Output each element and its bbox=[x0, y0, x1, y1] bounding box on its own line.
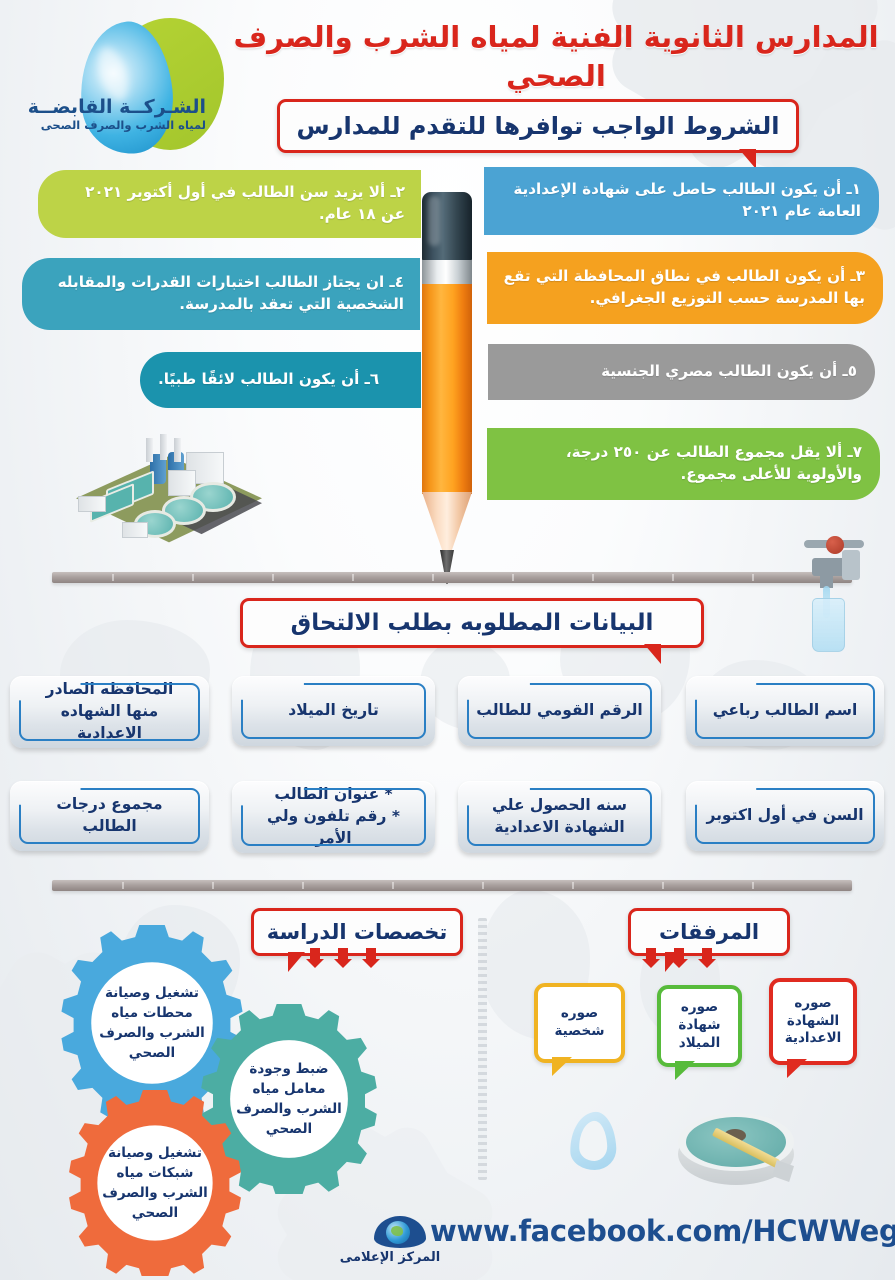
condition-item-2: ٢ـ ألا يزيد سن الطالب في أول أكتوبر ٢٠٢١… bbox=[38, 170, 421, 238]
condition-text: ٤ـ ان يجتاز الطالب اختبارات القدرات والم… bbox=[40, 272, 404, 315]
pencil-illustration bbox=[419, 192, 475, 592]
specializations-banner: تخصصات الدراسة bbox=[251, 908, 463, 956]
attachment-item-birth-certificate[interactable]: صوره شهادة الميلاد bbox=[657, 985, 742, 1067]
logo-line1: الشـركــة القابضــة bbox=[18, 96, 206, 118]
callout-tail bbox=[552, 1057, 572, 1076]
arrow-down-icon bbox=[646, 948, 656, 959]
condition-text: ٥ـ أن يكون الطالب مصري الجنسية bbox=[601, 361, 857, 383]
data-field-label: السن في أول اكتوبر bbox=[706, 805, 863, 827]
attachment-label: صوره شهادة الميلاد bbox=[669, 999, 730, 1052]
condition-item-7: ٧ـ ألا يقل مجموع الطالب عن ٢٥٠ درجة، وال… bbox=[487, 428, 880, 500]
media-center-label: المركز الإعلامى bbox=[330, 1250, 450, 1265]
divider-pipe-bottom bbox=[52, 880, 852, 891]
callout-tail bbox=[675, 1061, 695, 1080]
data-field-label: تاريخ الميلاد bbox=[288, 700, 379, 722]
data-field-box[interactable]: الرقم القومي للطالب bbox=[458, 676, 661, 746]
data-field-box[interactable]: تاريخ الميلاد bbox=[232, 676, 435, 746]
divider-pipe-top bbox=[52, 572, 852, 583]
data-field-box[interactable]: اسم الطالب رباعي bbox=[686, 676, 884, 746]
data-field-box[interactable]: مجموع درجات الطالب bbox=[10, 781, 209, 851]
logo-line2: لمياه الشرب والصرف الصحى bbox=[18, 118, 206, 132]
ribbon-tail bbox=[739, 149, 756, 169]
company-logo: الشـركــة القابضــة لمياه الشرب والصرف ا… bbox=[18, 12, 208, 167]
arrow-down-icon bbox=[310, 948, 320, 959]
conditions-banner: الشروط الواجب توافرها للتقدم للمدارس bbox=[277, 99, 799, 153]
attachment-item-certificate[interactable]: صوره الشهادة الاعدادية bbox=[769, 978, 857, 1065]
condition-text: ٧ـ ألا يقل مجموع الطالب عن ٢٥٠ درجة، وال… bbox=[503, 442, 862, 485]
gear-label: تشغيل وصيانة شبكات مياه الشرب والصرف الص… bbox=[98, 1143, 212, 1224]
data-field-label: سنه الحصول علي الشهادة الاعدادية bbox=[476, 795, 643, 838]
gear-label: تشغيل وصيانة محطات مياه الشرب والصرف الص… bbox=[94, 983, 210, 1064]
attachments-banner-label: المرفقات bbox=[659, 920, 759, 944]
conditions-banner-label: الشروط الواجب توافرها للتقدم للمدارس bbox=[297, 112, 780, 140]
data-section-banner-label: البيانات المطلوبه بطلب الالتحاق bbox=[291, 610, 654, 636]
data-field-label: * عنوان الطالب * رقم تلفون ولي الأمر bbox=[250, 784, 417, 849]
data-field-box[interactable]: السن في أول اكتوبر bbox=[686, 781, 884, 851]
media-center-logo bbox=[374, 1216, 426, 1248]
condition-item-6: ٦ـ أن يكون الطالب لائقًا طبيًا. bbox=[140, 352, 421, 408]
condition-item-5: ٥ـ أن يكون الطالب مصري الجنسية bbox=[488, 344, 875, 400]
data-field-label: المحافظه الصادر منها الشهاده الاعدادية bbox=[28, 679, 191, 744]
data-field-label: الرقم القومي للطالب bbox=[476, 700, 642, 722]
facebook-url[interactable]: www.facebook.com/HCWWeg bbox=[430, 1214, 885, 1248]
vertical-ruler-divider bbox=[478, 918, 487, 1180]
condition-text: ٦ـ أن يكون الطالب لائقًا طبيًا. bbox=[158, 369, 379, 391]
arrow-down-icon bbox=[702, 948, 712, 959]
condition-item-4: ٤ـ ان يجتاز الطالب اختبارات القدرات والم… bbox=[22, 258, 420, 330]
ribbon-tail bbox=[288, 952, 305, 972]
page-title: المدارس الثانوية الفنية لمياه الشرب والص… bbox=[231, 18, 881, 96]
clarifier-tank-illustration bbox=[672, 1105, 800, 1197]
ribbon-tail bbox=[644, 644, 661, 664]
attachment-label: صوره الشهادة الاعدادية bbox=[781, 995, 845, 1048]
logo-globe-icon bbox=[60, 16, 190, 156]
callout-tail bbox=[787, 1059, 807, 1078]
water-tap-illustration bbox=[790, 536, 885, 654]
arrow-down-icon bbox=[366, 948, 376, 959]
gear-label: ضبط وجودة معامل مياه الشرب والصرف الصحي bbox=[232, 1059, 346, 1140]
condition-text: ٢ـ ألا يزيد سن الطالب في أول أكتوبر ٢٠٢١… bbox=[56, 182, 405, 225]
specialization-gear-networks[interactable]: تشغيل وصيانة شبكات مياه الشرب والصرف الص… bbox=[62, 1090, 248, 1276]
water-treatment-plant-illustration bbox=[58, 430, 293, 560]
arrow-down-icon bbox=[338, 948, 348, 959]
data-field-box[interactable]: * عنوان الطالب * رقم تلفون ولي الأمر bbox=[232, 781, 435, 853]
data-field-box[interactable]: سنه الحصول علي الشهادة الاعدادية bbox=[458, 781, 661, 853]
data-section-banner: البيانات المطلوبه بطلب الالتحاق bbox=[240, 598, 704, 648]
arrow-down-icon bbox=[674, 948, 684, 959]
data-field-label: مجموع درجات الطالب bbox=[28, 794, 191, 837]
gear-label-wrap: تشغيل وصيانة شبكات مياه الشرب والصرف الص… bbox=[62, 1090, 248, 1276]
condition-item-1: ١ـ أن يكون الطالب حاصل على شهادة الإعداد… bbox=[484, 167, 879, 235]
specializations-banner-label: تخصصات الدراسة bbox=[267, 920, 448, 944]
condition-item-3: ٣ـ أن يكون الطالب في نطاق المحافظة التي … bbox=[487, 252, 883, 324]
attachment-item-personal-photo[interactable]: صوره شخصية bbox=[534, 983, 625, 1063]
data-field-label: اسم الطالب رباعي bbox=[713, 700, 858, 722]
data-field-box[interactable]: المحافظه الصادر منها الشهاده الاعدادية bbox=[10, 676, 209, 748]
condition-text: ٣ـ أن يكون الطالب في نطاق المحافظة التي … bbox=[503, 266, 865, 309]
attachment-label: صوره شخصية bbox=[546, 1005, 613, 1041]
condition-text: ١ـ أن يكون الطالب حاصل على شهادة الإعداد… bbox=[500, 179, 861, 222]
infographic-page: الشـركــة القابضــة لمياه الشرب والصرف ا… bbox=[0, 0, 895, 1280]
